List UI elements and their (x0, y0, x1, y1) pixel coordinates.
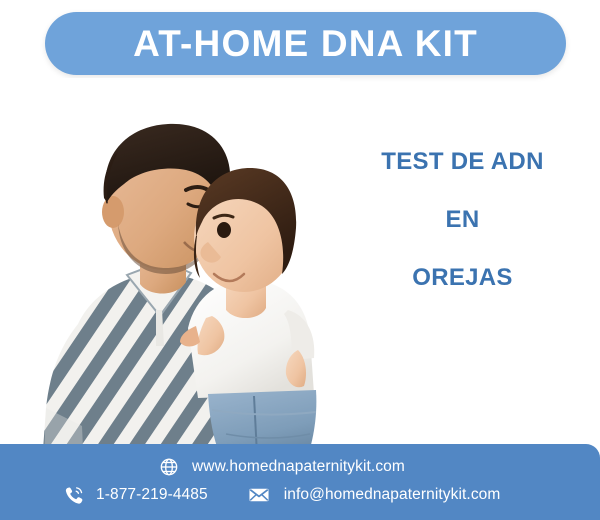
website-label: www.homednapaternitykit.com (192, 458, 405, 476)
footer-contact-bar: www.homednapaternitykit.com 1-877-219-44… (0, 444, 600, 520)
globe-icon (158, 456, 180, 478)
email-label: info@homednapaternitykit.com (284, 486, 501, 504)
headline-line-1: TEST DE ADN (335, 150, 590, 174)
footer-contact-row: 1-877-219-4485 info@homednapaternitykit.… (62, 484, 500, 506)
headline-line-3: OREJAS (335, 266, 590, 290)
footer-website-row: www.homednapaternitykit.com (158, 456, 405, 478)
header-pill: AT-HOME DNA KIT (45, 12, 566, 75)
page-title: AT-HOME DNA KIT (133, 25, 478, 62)
headline-block: TEST DE ADN EN OREJAS (335, 150, 590, 290)
phone-label: 1-877-219-4485 (96, 486, 208, 504)
phone-item[interactable]: 1-877-219-4485 (62, 484, 208, 506)
phone-icon (62, 484, 84, 506)
email-item[interactable]: info@homednapaternitykit.com (248, 484, 501, 506)
website-item[interactable]: www.homednapaternitykit.com (158, 456, 405, 478)
headline-line-2: EN (335, 208, 590, 232)
dna-kit-promo-banner: AT-HOME DNA KIT (0, 0, 600, 520)
envelope-icon (248, 484, 270, 506)
